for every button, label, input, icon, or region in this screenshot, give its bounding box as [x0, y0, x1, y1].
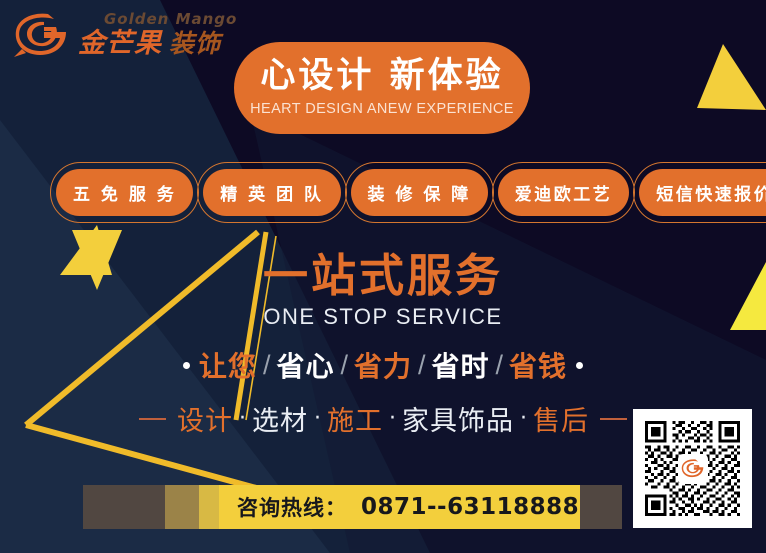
hotline-bar: 咨询热线： 0871--63118888 — [219, 485, 580, 529]
feature-pill-wrap: 爱迪欧工艺 — [498, 169, 630, 216]
benefit-item-5: 省钱 — [509, 345, 567, 385]
service-item-2: 选材 — [252, 399, 308, 438]
feature-pill-1[interactable]: 五 免 服 务 — [56, 169, 193, 216]
qr-center-logo — [678, 454, 708, 484]
feature-pill-row: 五 免 服 务 精 英 团 队 装 修 保 障 爱迪欧工艺 短信快速报价 — [56, 169, 766, 216]
promotional-banner: Golden Mango 金芒果 装饰 心设计 新体验 HEART DESIGN… — [0, 0, 766, 553]
feature-pill-2[interactable]: 精 英 团 队 — [203, 169, 340, 216]
logo-chinese-main: 金芒果 — [78, 30, 162, 57]
golden-mango-g-monogram — [14, 13, 70, 57]
benefit-item-1: 让您 — [199, 345, 257, 385]
logo-chinese-sub: 装饰 — [169, 31, 221, 56]
feature-pill-4[interactable]: 爱迪欧工艺 — [498, 169, 630, 216]
service-item-5: 售后 — [533, 399, 589, 438]
feature-pill-5[interactable]: 短信快速报价 — [639, 169, 766, 216]
benefit-separator: / — [496, 350, 504, 381]
feature-pill-wrap: 短信快速报价 — [639, 169, 766, 216]
onestop-chinese: 一站式服务 — [263, 252, 503, 299]
benefit-item-3: 省力 — [354, 345, 412, 385]
service-item-4: 家具饰品 — [402, 399, 514, 438]
logo-english: Golden Mango — [104, 12, 237, 27]
service-dash-left — [139, 418, 166, 420]
onestop-english: ONE STOP SERVICE — [263, 304, 502, 330]
benefit-separator: / — [340, 350, 348, 381]
triangle-decor-right-top — [697, 44, 766, 110]
feature-pill-wrap: 装 修 保 障 — [351, 169, 488, 216]
feature-pill-wrap: 五 免 服 务 — [56, 169, 193, 216]
service-item-3: 施工 — [327, 399, 383, 438]
bullet-dot-left — [183, 362, 190, 369]
benefits-line: 让您 / 省心 / 省力 / 省时 / 省钱 — [178, 345, 588, 385]
benefit-separator: / — [418, 350, 426, 381]
qr-code-panel[interactable] — [633, 409, 752, 528]
service-separator: · — [314, 406, 321, 431]
benefit-item-4: 省时 — [432, 345, 490, 385]
service-separator: · — [520, 406, 527, 431]
bullet-dot-right — [576, 362, 583, 369]
color-block-mid — [165, 485, 199, 529]
services-line: 设计 · 选材 · 施工 · 家具饰品 · 售后 — [131, 399, 635, 438]
hotline-label: 咨询热线： — [237, 492, 347, 522]
feature-pill-wrap: 精 英 团 队 — [203, 169, 340, 216]
feature-pill-3[interactable]: 装 修 保 障 — [351, 169, 488, 216]
color-block-dark — [83, 485, 165, 529]
brand-logo: Golden Mango 金芒果 装饰 — [14, 12, 237, 57]
color-block-light — [199, 485, 220, 529]
headline-chinese: 心设计 新体验 — [260, 59, 503, 94]
logo-chinese: 金芒果 装饰 — [78, 30, 237, 57]
headline-english: HEART DESIGN ANEW EXPERIENCE — [250, 101, 514, 117]
service-separator: · — [239, 406, 246, 431]
headline-banner: 心设计 新体验 HEART DESIGN ANEW EXPERIENCE — [234, 42, 530, 134]
logo-text-block: Golden Mango 金芒果 装饰 — [78, 12, 237, 57]
service-dash-right — [600, 418, 627, 420]
qr-code-image — [642, 418, 743, 519]
bottom-color-blocks — [83, 485, 220, 529]
service-separator: · — [389, 406, 396, 431]
hotline-tail-dark — [578, 485, 622, 529]
service-item-1: 设计 — [177, 399, 233, 438]
benefit-item-2: 省心 — [276, 345, 334, 385]
hotline-number: 0871--63118888 — [361, 494, 579, 520]
benefit-separator: / — [263, 350, 271, 381]
